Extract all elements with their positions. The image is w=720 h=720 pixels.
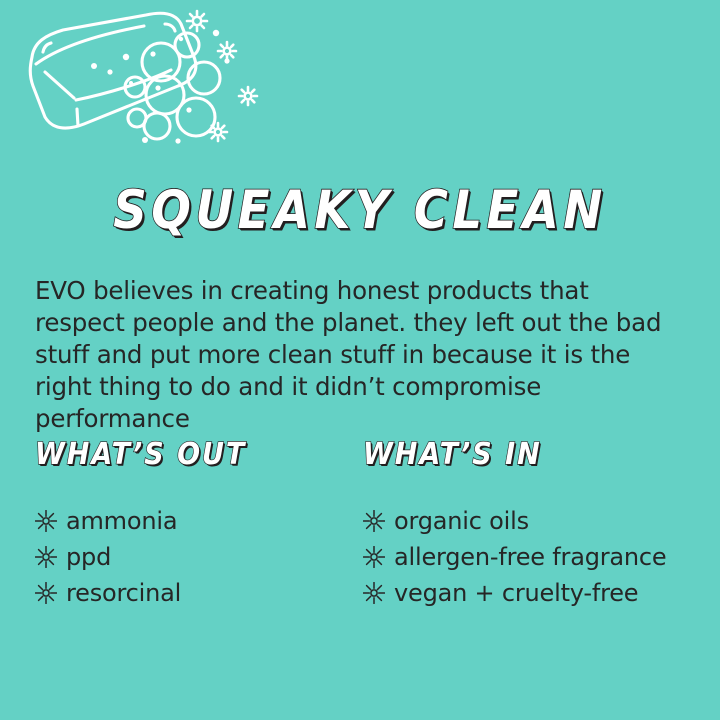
list-item: ammonia [35,503,355,539]
column-whats-out: WHAT’S OUT ammonia ppd [35,440,355,611]
list-item-label: ammonia [66,507,177,535]
page-title: SQUEAKY CLEAN [43,184,677,237]
list-item: vegan + cruelty-free [363,575,703,611]
list-item: organic oils [363,503,703,539]
column-whats-in: WHAT’S IN organic oils all [363,440,703,611]
body-copy: EVO believes in creating honest products… [35,275,675,435]
list-item: ppd [35,539,355,575]
sunburst-icon [363,510,385,532]
sunburst-icon [363,546,385,568]
soap-bar-with-bubbles-illustration [18,2,288,154]
sunburst-icon [35,582,57,604]
list-item-label: allergen-free fragrance [394,543,666,571]
list-item: resorcinal [35,575,355,611]
list-whats-in: organic oils allergen-free fragrance [363,503,703,611]
list-item-label: ppd [66,543,111,571]
list-item-label: organic oils [394,507,529,535]
squeaky-clean-poster: SQUEAKY CLEAN EVO believes in creating h… [0,0,720,720]
list-item: allergen-free fragrance [363,539,703,575]
sunburst-icon [363,582,385,604]
list-item-label: resorcinal [66,579,181,607]
sunburst-icon [35,510,57,532]
column-heading-whats-out: WHAT’S OUT [35,440,323,470]
list-whats-out: ammonia ppd resorcinal [35,503,355,611]
list-item-label: vegan + cruelty-free [394,579,638,607]
column-heading-whats-in: WHAT’S IN [363,440,669,470]
sunburst-icon [35,546,57,568]
